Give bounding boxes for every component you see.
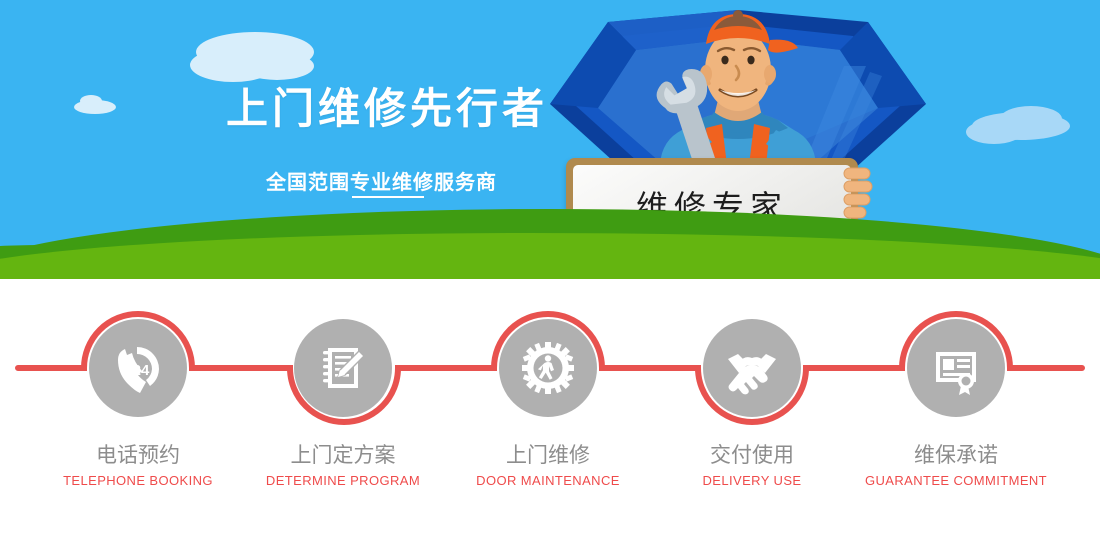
step-label-en: GUARANTEE COMMITMENT	[846, 472, 1066, 490]
handshake-icon	[723, 339, 781, 397]
step-circle-5[interactable]	[907, 319, 1005, 417]
cloud-small-left-b	[80, 95, 102, 107]
phone-24h-icon: 24	[110, 340, 166, 396]
step-circle-4[interactable]	[703, 319, 801, 417]
subheadline-underline	[352, 196, 424, 198]
hero-headline: 上门维修先行者	[226, 88, 546, 130]
cloud-large-left-c	[240, 52, 314, 80]
hero-subheadline: 全国范围专业维修服务商	[266, 166, 506, 195]
step-label-en: DOOR MAINTENANCE	[438, 472, 658, 490]
step-label-cn: 交付使用	[642, 444, 862, 468]
gear-worker-icon	[520, 340, 576, 396]
svg-text:24: 24	[133, 362, 150, 379]
step-label-3: 上门维修 DOOR MAINTENANCE	[438, 444, 658, 490]
step-circle-2[interactable]	[294, 319, 392, 417]
step-label-cn: 上门定方案	[233, 444, 453, 468]
certificate-ribbon-icon	[928, 340, 984, 396]
step-label-cn: 电话预约	[28, 444, 248, 468]
step-label-cn: 维保承诺	[846, 444, 1066, 468]
step-label-2: 上门定方案 DETERMINE PROGRAM	[233, 444, 453, 490]
step-label-5: 维保承诺 GUARANTEE COMMITMENT	[846, 444, 1066, 490]
step-label-en: TELEPHONE BOOKING	[28, 472, 248, 490]
hero-section: 维修专家 上门维修先行者 全国范围专业维修服务商	[0, 0, 1100, 279]
notepad-pencil-icon	[315, 340, 371, 396]
step-circle-1[interactable]: 24	[89, 319, 187, 417]
step-label-cn: 上门维修	[438, 444, 658, 468]
step-circle-3[interactable]	[499, 319, 597, 417]
step-label-4: 交付使用 DELIVERY USE	[642, 444, 862, 490]
cloud-right-c	[1000, 106, 1062, 132]
step-label-en: DELIVERY USE	[642, 472, 862, 490]
step-label-1: 电话预约 TELEPHONE BOOKING	[28, 444, 248, 490]
process-steps-section: 24	[0, 279, 1100, 540]
step-label-en: DETERMINE PROGRAM	[233, 472, 453, 490]
promo-banner: 维修专家 上门维修先行者 全国范围专业维修服务商	[0, 0, 1100, 540]
